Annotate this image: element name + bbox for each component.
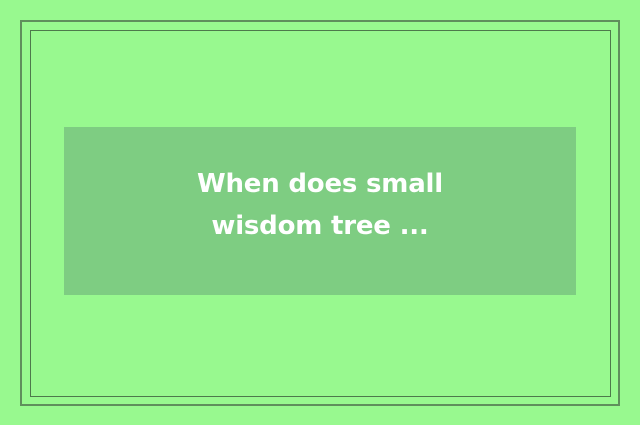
card-stage: When does small wisdom tree ... — [0, 0, 640, 425]
quote-line-1: When does small — [88, 163, 552, 205]
quote-line-2: wisdom tree ... — [88, 205, 552, 247]
quote-card[interactable]: When does small wisdom tree ... — [64, 127, 576, 295]
quote-text: When does small wisdom tree ... — [64, 163, 576, 247]
